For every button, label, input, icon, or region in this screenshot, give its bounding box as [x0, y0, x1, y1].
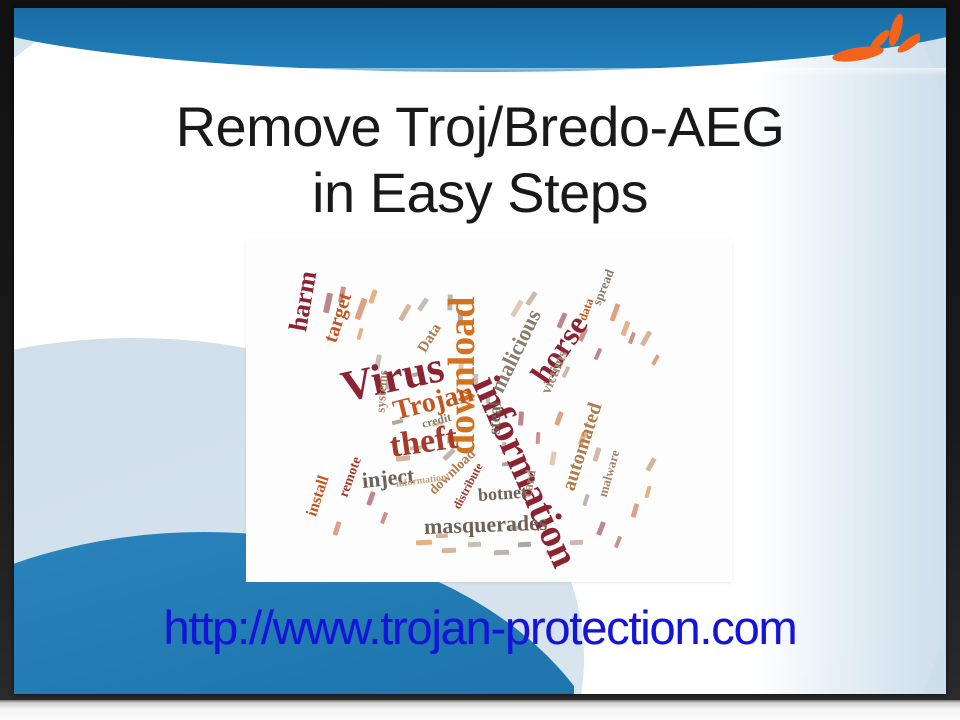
word-cloud-filler-stroke [628, 332, 636, 345]
video-player-frame: Remove Troj/Bredo-AEG in Easy Steps harm… [0, 0, 960, 720]
word-cloud-filler-stroke [549, 451, 556, 466]
word-cloud-filler-stroke [651, 354, 660, 366]
title-line-2: in Easy Steps [14, 160, 946, 226]
word-cloud-filler-stroke [416, 540, 432, 546]
player-bottom-shelf [0, 700, 960, 720]
slide-top-banner [14, 8, 946, 72]
word-cloud-filler-stroke [332, 521, 341, 536]
word-cloud-filler-stroke [621, 321, 631, 337]
word-cloud-filler-stroke [631, 503, 640, 518]
word-cloud-canvas: harmtargetVirusDatadownloadmalicioushors… [246, 240, 732, 582]
word-cloud-image: harmtargetVirusDatadownloadmalicioushors… [246, 240, 732, 582]
word-cloud-filler-stroke [596, 521, 606, 536]
orange-petal-burst-logo-icon [830, 12, 920, 70]
word-cloud-word: steal [486, 401, 504, 435]
banner-fill [14, 8, 946, 72]
word-cloud-filler-stroke [610, 303, 621, 322]
word-cloud-filler-stroke [594, 348, 603, 361]
word-cloud-filler-stroke [582, 494, 590, 507]
word-cloud-filler-stroke [368, 289, 377, 304]
word-cloud-filler-stroke [417, 297, 429, 311]
word-cloud-word: harm [285, 269, 321, 333]
presentation-slide: Remove Troj/Bredo-AEG in Easy Steps harm… [14, 8, 946, 694]
word-cloud-filler-stroke [468, 542, 481, 547]
word-cloud-word: systems [374, 370, 390, 413]
word-cloud-filler-stroke [554, 411, 563, 426]
website-url-text[interactable]: http://www.trojan-protection.com [164, 601, 797, 654]
title-line-1: Remove Troj/Bredo-AEG [14, 94, 946, 160]
word-cloud-filler-stroke [645, 457, 656, 472]
word-cloud-filler-stroke [494, 550, 509, 556]
website-url[interactable]: http://www.trojan-protection.com [14, 600, 946, 656]
word-cloud-filler-stroke [354, 298, 367, 321]
word-cloud-filler-stroke [644, 486, 651, 499]
word-cloud-filler-stroke [525, 291, 538, 306]
word-cloud-word: install [304, 474, 332, 519]
word-cloud-word: malware [596, 448, 622, 498]
word-cloud-filler-stroke [398, 303, 411, 321]
word-cloud-filler-stroke [614, 536, 622, 549]
word-cloud-filler-stroke [518, 542, 531, 547]
word-cloud-word: data [576, 297, 595, 322]
word-cloud-filler-stroke [640, 330, 652, 346]
word-cloud-filler-stroke [380, 512, 388, 525]
word-cloud-filler-stroke [442, 548, 456, 553]
page-title: Remove Troj/Bredo-AEG in Easy Steps [14, 94, 946, 226]
word-cloud-filler-stroke [592, 447, 601, 462]
word-cloud-filler-stroke [366, 491, 375, 506]
word-cloud-word: masquerades [424, 512, 548, 538]
word-cloud-filler-stroke [356, 328, 363, 341]
